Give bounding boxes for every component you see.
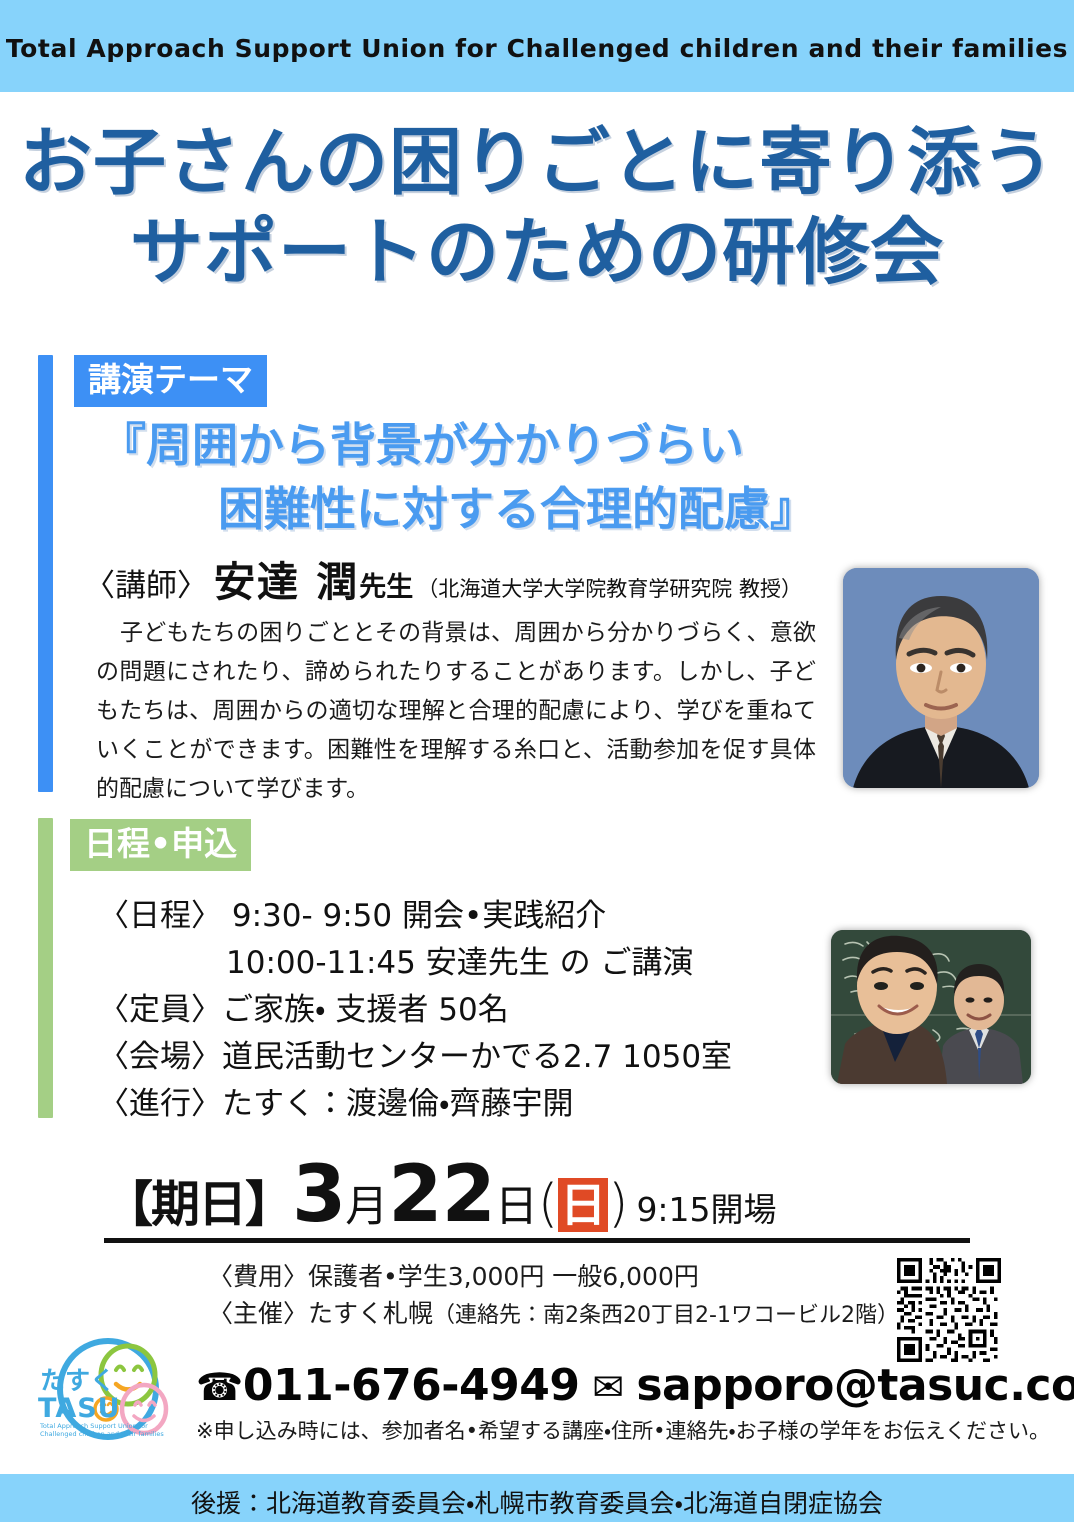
lecturer-portrait-photo (843, 568, 1039, 788)
lecturer-name: 安達 潤 (208, 558, 359, 606)
schedule-row: 〈日程〉 9:30- 9:50 開会•実践紹介 (98, 893, 732, 940)
host-value: たすく札幌 (308, 1299, 433, 1328)
schedule-row-label: 〈定員〉 (98, 992, 222, 1028)
schedule-row-value: 10:00-11:45 安達先生 の ご講演 (226, 945, 693, 981)
theme-section-accent-bar (38, 355, 53, 792)
date-day-number: 22 (388, 1150, 495, 1240)
blackboard-group-photo (831, 930, 1031, 1084)
svg-text:Challenged children and their: Challenged children and their families (40, 1430, 164, 1438)
lecturer-honorific: 先生 (359, 572, 413, 603)
theme-section-badge: 講演テーマ (74, 355, 267, 407)
date-day-unit: 日 (495, 1182, 538, 1232)
svg-text:Total Approach Support Union f: Total Approach Support Union for (39, 1422, 148, 1430)
schedule-row-value: ご家族・ 支援者 50名 (222, 992, 509, 1028)
host-label: 〈主催〉 (208, 1299, 308, 1328)
lecture-theme-line-2: 困難性に対する合理的配慮』 (218, 478, 816, 540)
schedule-row-value: 9:30- 9:50 開会•実践紹介 (222, 898, 606, 934)
schedule-section-accent-bar (38, 818, 53, 1118)
date-month-number: 3 (292, 1150, 345, 1240)
date-month-unit: 月 (345, 1182, 388, 1232)
schedule-row-label: 〈進行〉 (98, 1086, 222, 1122)
date-paren-open: ( (538, 1174, 558, 1234)
footer-band: 後援：北海道教育委員会・札幌市教育委員会・北海道自閉症協会 (0, 1474, 1074, 1522)
lecturer-label: 〈講師〉 (84, 568, 208, 604)
details-block: 〈費用〉保護者•学生3,000円 一般6,000円 〈主催〉たすく札幌（連絡先：… (208, 1258, 899, 1334)
lecture-theme-line-1: 『周囲から背景が分かりづらい (100, 414, 744, 476)
fee-value: 保護者•学生3,000円 一般6,000円 (308, 1262, 699, 1291)
schedule-row-value: たすく：渡邊倫・齊藤宇開 (222, 1086, 574, 1122)
telephone-icon: ☎ (196, 1365, 243, 1409)
date-paren-close: ) (608, 1174, 628, 1234)
tasuc-logo: たすく TASU Total Approach Support Union fo… (26, 1337, 190, 1441)
schedule-row-value: 道民活動センターかでる2.7 1050室 (222, 1039, 732, 1075)
host-row: 〈主催〉たすく札幌（連絡先：南2条西20丁目2-1ワコービル2階） (208, 1295, 899, 1334)
envelope-icon: ✉ (580, 1365, 637, 1409)
schedule-row-label: 〈日程〉 (98, 898, 222, 934)
event-date-line: 【期日】3月22日(日)9:15開場 (104, 1150, 777, 1240)
svg-text:たすく: たすく (40, 1366, 115, 1395)
contact-line: ☎011-676-4949 ✉ sapporo@tasuc.com (196, 1360, 1074, 1411)
schedule-row: 〈定員〉ご家族・ 支援者 50名 (98, 987, 732, 1034)
email-address[interactable]: sapporo@tasuc.com (636, 1360, 1074, 1411)
schedule-section-badge: 日程•申込 (70, 819, 251, 871)
svg-text:TASU: TASU (38, 1393, 121, 1424)
doors-open-time: 9:15開場 (628, 1190, 776, 1229)
poster-title: お子さんの困りごとに寄り添う サポートのための研修会 (0, 118, 1074, 298)
schedule-row: 〈進行〉たすく：渡邊倫・齊藤宇開 (98, 1081, 732, 1128)
poster-title-line-2: サポートのための研修会 (0, 208, 1074, 298)
lecturer-line: 〈講師〉安達 潤先生（北海道大学大学院教育学研究院 教授） (84, 548, 802, 608)
date-label: 【期日】 (104, 1176, 292, 1233)
horizontal-divider (104, 1238, 970, 1243)
host-contact: （連絡先：南2条西20丁目2-1ワコービル2階） (433, 1303, 899, 1328)
event-poster: Total Approach Support Union for Challen… (0, 0, 1074, 1522)
lecturer-affiliation: （北海道大学大学院教育学研究院 教授） (413, 577, 802, 601)
schedule-list: 〈日程〉 9:30- 9:50 開会•実践紹介 10:00-11:45 安達先生… (98, 893, 732, 1128)
schedule-row: 10:00-11:45 安達先生 の ご講演 (98, 940, 732, 987)
schedule-row: 〈会場〉道民活動センターかでる2.7 1050室 (98, 1034, 732, 1081)
lecture-abstract: 子どもたちの困りごととその背景は、周囲から分かりづらく、意欲の問題にされたり、諦… (96, 614, 816, 809)
poster-title-line-1: お子さんの困りごとに寄り添う (0, 118, 1074, 208)
date-weekday-badge: 日 (558, 1178, 608, 1232)
qr-code[interactable] (897, 1258, 1001, 1362)
footer-sponsors: 後援：北海道教育委員会・札幌市教育委員会・北海道自閉症協会 (0, 1484, 1074, 1520)
phone-number[interactable]: 011-676-4949 (243, 1360, 580, 1411)
fee-label: 〈費用〉 (208, 1262, 308, 1291)
header-tagline: Total Approach Support Union for Challen… (0, 34, 1074, 63)
application-note: ※申し込み時には、参加者名•希望する講座・住所•連絡先・お子様の学年をお伝えくだ… (196, 1415, 1050, 1445)
schedule-row-label: 〈会場〉 (98, 1039, 222, 1075)
fee-row: 〈費用〉保護者•学生3,000円 一般6,000円 (208, 1258, 899, 1295)
